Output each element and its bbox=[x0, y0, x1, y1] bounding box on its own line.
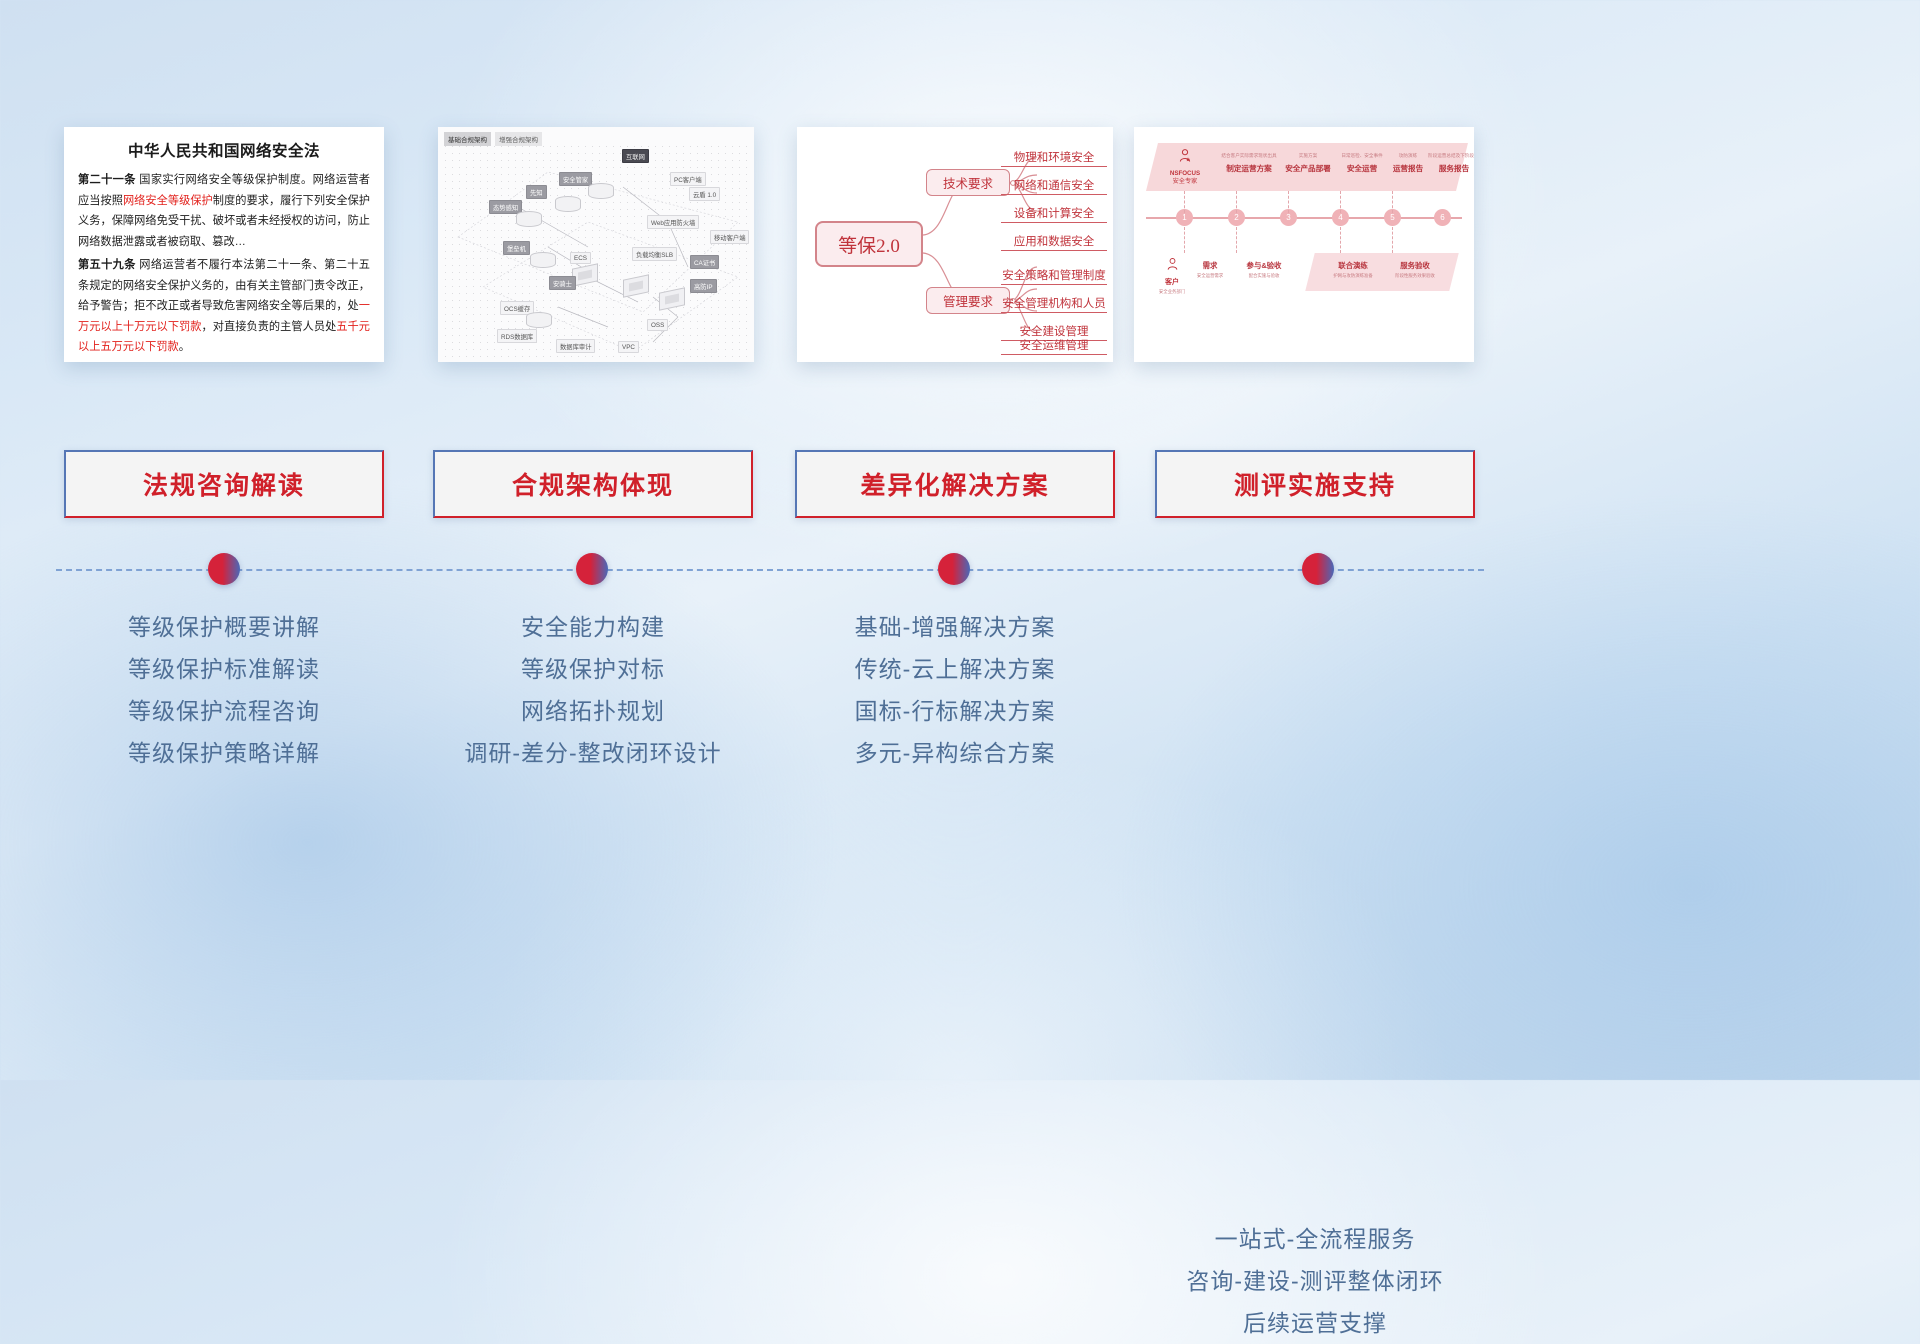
service-timeline: NSFOCUS 安全专家 结合客户实际需求现状出具 制定运营方案 实施方案 安全… bbox=[1134, 127, 1474, 362]
timeline-step-4-main: 运营报告 bbox=[1384, 163, 1432, 174]
mindmap-root-node: 等保2.0 bbox=[815, 221, 923, 267]
node-icon-cylinder-5 bbox=[526, 312, 552, 328]
list-item: 安全能力构建 bbox=[433, 606, 753, 648]
milestone-dot-1[interactable] bbox=[208, 553, 240, 585]
timeline-dash-8 bbox=[1340, 227, 1341, 253]
timeline-dashed-axis bbox=[56, 569, 1484, 571]
node-cloud-shield: 云盾 1.0 bbox=[689, 187, 720, 201]
list-item: 一站式-全流程服务 bbox=[1155, 1218, 1475, 1260]
detail-list-architecture: 安全能力构建 等级保护对标 网络拓扑规划 调研-差分-整改闭环设计 bbox=[433, 606, 753, 774]
timeline-step-2-main: 安全产品部署 bbox=[1280, 163, 1336, 174]
card-cybersecurity-law[interactable]: 中华人民共和国网络安全法 第二十一条 国家实行网络安全等级保护制度。网络运营者应… bbox=[64, 127, 384, 362]
list-item: 等级保护标准解读 bbox=[64, 648, 384, 690]
expert-role-label: 安全专家 bbox=[1160, 178, 1210, 186]
timeline-footer-4-title: 服务验收 bbox=[1388, 260, 1442, 271]
timeline-dash-5 bbox=[1392, 191, 1393, 213]
mindmap-branch-management: 管理要求 bbox=[926, 287, 1010, 314]
timeline-step-1: 结合客户实际需求现状出具 制定运营方案 bbox=[1218, 153, 1280, 174]
detail-list-regulation: 等级保护概要讲解 等级保护标准解读 等级保护流程咨询 等级保护策略详解 bbox=[64, 606, 384, 774]
heading-differentiated-solution[interactable]: 差异化解决方案 bbox=[795, 450, 1115, 518]
list-item: 多元-异构综合方案 bbox=[795, 732, 1115, 774]
customer-sub: 安全业务部门 bbox=[1144, 289, 1200, 295]
heading-row: 法规咨询解读 合规架构体现 差异化解决方案 测评实施支持 bbox=[0, 450, 1920, 518]
law-article-59: 第五十九条 网络运营者不履行本法第二十一条、第二十五条规定的网络安全保护义务的，… bbox=[78, 255, 370, 358]
node-anti-ddos-ip: 高防IP bbox=[690, 279, 717, 293]
law-document: 中华人民共和国网络安全法 第二十一条 国家实行网络安全等级保护制度。网络运营者应… bbox=[64, 127, 384, 362]
timeline-expert-badge: NSFOCUS 安全专家 bbox=[1160, 148, 1210, 186]
mindmap-leaf-security-org: 安全管理机构和人员 bbox=[1001, 293, 1107, 313]
expert-person-icon bbox=[1177, 148, 1193, 164]
node-mobile-client: 移动客户端 bbox=[710, 230, 749, 244]
detail-list-solution: 基础-增强解决方案 传统-云上解决方案 国标-行标解决方案 多元-异构综合方案 bbox=[795, 606, 1115, 774]
timeline-step-5: 阶段运营总结及下阶段规划 服务报告 bbox=[1428, 153, 1474, 174]
node-vpc: VPC bbox=[618, 341, 639, 353]
timeline-dash-4 bbox=[1340, 191, 1341, 213]
node-xianzhi: 先知 bbox=[526, 185, 547, 199]
heading-regulation-consulting[interactable]: 法规咨询解读 bbox=[64, 450, 384, 518]
milestone-dot-2[interactable] bbox=[576, 553, 608, 585]
timeline-step-3-main: 安全运营 bbox=[1334, 163, 1390, 174]
list-item: 调研-差分-整改闭环设计 bbox=[433, 732, 753, 774]
timeline-axis bbox=[1146, 217, 1462, 219]
timeline-footer-3: 联合演练 护网与攻防演练准备 bbox=[1326, 260, 1380, 279]
node-icon-cylinder-1 bbox=[588, 183, 614, 199]
article-59-text-3: 。 bbox=[179, 341, 190, 353]
list-item: 咨询-建设-测评整体闭环 bbox=[1155, 1260, 1475, 1302]
list-item: 网络拓扑规划 bbox=[433, 690, 753, 732]
timeline-step-4: 攻防演练 运营报告 bbox=[1384, 153, 1432, 174]
timeline-footer-1-title: 需求 bbox=[1190, 260, 1230, 271]
timeline-step-1-sub: 结合客户实际需求现状出具 bbox=[1218, 153, 1280, 159]
diagram-connectors bbox=[438, 127, 754, 362]
timeline-dash-6 bbox=[1184, 227, 1185, 253]
timeline-marker-6: 6 bbox=[1434, 209, 1451, 226]
article-21-label: 第二十一条 bbox=[78, 174, 136, 186]
timeline-footer-3-title: 联合演练 bbox=[1326, 260, 1380, 271]
list-item: 国标-行标解决方案 bbox=[795, 690, 1115, 732]
timeline-footer-1-sub: 安全运营需求 bbox=[1190, 273, 1230, 279]
node-ecs: ECS bbox=[570, 252, 591, 264]
mindmap-leaf-physical-security: 物理和环境安全 bbox=[1001, 147, 1107, 167]
heading-compliance-architecture[interactable]: 合规架构体现 bbox=[433, 450, 753, 518]
node-anqishi: 安骑士 bbox=[549, 276, 576, 290]
timeline-footer-4: 服务验收 阶段性服务效果验收 bbox=[1388, 260, 1442, 279]
timeline-footer-2-title: 参与&验收 bbox=[1236, 260, 1292, 271]
timeline-dash-9 bbox=[1392, 227, 1393, 253]
mindmap-leaf-network-security: 网络和通信安全 bbox=[1001, 175, 1107, 195]
law-title: 中华人民共和国网络安全法 bbox=[78, 139, 370, 161]
node-bastion-host: 堡垒机 bbox=[503, 241, 530, 255]
timeline-step-3-sub: 日常巡检、安全事件 bbox=[1334, 153, 1390, 159]
timeline-dash-3 bbox=[1288, 191, 1289, 213]
milestone-dot-3[interactable] bbox=[938, 553, 970, 585]
list-item: 基础-增强解决方案 bbox=[795, 606, 1115, 648]
node-icon-cylinder-3 bbox=[516, 211, 542, 227]
list-item: 后续运营支撑 bbox=[1155, 1302, 1475, 1344]
timeline-banner-content: NSFOCUS 安全专家 结合客户实际需求现状出具 制定运营方案 实施方案 安全… bbox=[1152, 143, 1462, 191]
node-rds-database: RDS数据库 bbox=[497, 329, 537, 343]
timeline-step-4-sub: 攻防演练 bbox=[1384, 153, 1432, 159]
node-ca-certificate: CA证书 bbox=[690, 255, 719, 269]
mindmap-leaf-application-security: 应用和数据安全 bbox=[1001, 231, 1107, 251]
timeline-footer-2-sub: 配合实施与验收 bbox=[1236, 273, 1292, 279]
node-icon-cylinder-4 bbox=[530, 252, 556, 268]
card-row: 中华人民共和国网络安全法 第二十一条 国家实行网络安全等级保护制度。网络运营者应… bbox=[0, 127, 1920, 362]
mindmap: 等保2.0 技术要求 管理要求 物理和环境安全 网络和通信安全 设备和计算安全 … bbox=[797, 127, 1113, 362]
timeline-step-1-main: 制定运营方案 bbox=[1218, 163, 1280, 174]
node-situational-awareness: 态势感知 bbox=[489, 200, 522, 214]
mindmap-leaf-device-security: 设备和计算安全 bbox=[1001, 203, 1107, 223]
timeline-dash-1 bbox=[1184, 191, 1185, 213]
timeline-footer-3-sub: 护网与攻防演练准备 bbox=[1326, 273, 1380, 279]
article-21-highlight: 网络安全等级保护 bbox=[123, 195, 213, 207]
timeline-footer-4-sub: 阶段性服务效果验收 bbox=[1388, 273, 1442, 279]
heading-assessment-support[interactable]: 测评实施支持 bbox=[1155, 450, 1475, 518]
article-59-label: 第五十九条 bbox=[78, 259, 136, 271]
node-security-steward: 安全管家 bbox=[559, 172, 592, 186]
mindmap-branch-technical: 技术要求 bbox=[926, 169, 1010, 196]
timeline-dash-2 bbox=[1236, 191, 1237, 213]
mindmap-leaf-security-policy: 安全策略和管理制度 bbox=[1001, 265, 1107, 285]
expert-brand-label: NSFOCUS bbox=[1160, 170, 1210, 178]
node-waf: Web应用防火墙 bbox=[647, 215, 699, 229]
card-nsfocus-timeline[interactable]: NSFOCUS 安全专家 结合客户实际需求现状出具 制定运营方案 实施方案 安全… bbox=[1134, 127, 1474, 362]
customer-person-icon bbox=[1165, 257, 1180, 272]
list-item: 等级保护概要讲解 bbox=[64, 606, 384, 648]
list-item: 传统-云上解决方案 bbox=[795, 648, 1115, 690]
list-item: 等级保护策略详解 bbox=[64, 732, 384, 774]
node-database-audit: 数据库审计 bbox=[556, 339, 595, 353]
mindmap-leaf-ops-mgmt: 安全运维管理 bbox=[1001, 335, 1107, 355]
timeline-step-2-sub: 实施方案 bbox=[1280, 153, 1336, 159]
timeline-step-3: 日常巡检、安全事件 安全运营 bbox=[1334, 153, 1390, 174]
milestone-dot-4[interactable] bbox=[1302, 553, 1334, 585]
timeline-footer-2: 参与&验收 配合实施与验收 bbox=[1236, 260, 1292, 279]
node-internet: 互联网 bbox=[622, 149, 649, 163]
timeline-step-5-sub: 阶段运营总结及下阶段规划 bbox=[1428, 153, 1474, 159]
timeline-dash-7 bbox=[1236, 227, 1237, 253]
law-article-21: 第二十一条 国家实行网络安全等级保护制度。网络运营者应当按照网络安全等级保护制度… bbox=[78, 170, 370, 252]
detail-list-assessment: 一站式-全流程服务 咨询-建设-测评整体闭环 后续运营支撑 bbox=[1155, 1218, 1475, 1344]
timeline-footer-1: 需求 安全运营需求 bbox=[1190, 260, 1230, 279]
node-icon-cylinder-2 bbox=[555, 196, 581, 212]
architecture-diagram: 基础合规架构 增强合规架构 互联网 bbox=[438, 127, 754, 362]
node-pc-client: PC客户端 bbox=[670, 172, 706, 186]
card-compliance-architecture[interactable]: 基础合规架构 增强合规架构 互联网 bbox=[438, 127, 754, 362]
list-item: 等级保护对标 bbox=[433, 648, 753, 690]
card-mindmap-dengbao[interactable]: 等保2.0 技术要求 管理要求 物理和环境安全 网络和通信安全 设备和计算安全 … bbox=[797, 127, 1113, 362]
node-slb: 负载均衡SLB bbox=[632, 247, 677, 261]
node-oss: OSS bbox=[647, 319, 668, 331]
timeline-step-5-main: 服务报告 bbox=[1428, 163, 1474, 174]
article-59-text-2: ，对直接负责的主管人员处 bbox=[202, 321, 337, 333]
list-item: 等级保护流程咨询 bbox=[64, 690, 384, 732]
timeline-step-2: 实施方案 安全产品部署 bbox=[1280, 153, 1336, 174]
